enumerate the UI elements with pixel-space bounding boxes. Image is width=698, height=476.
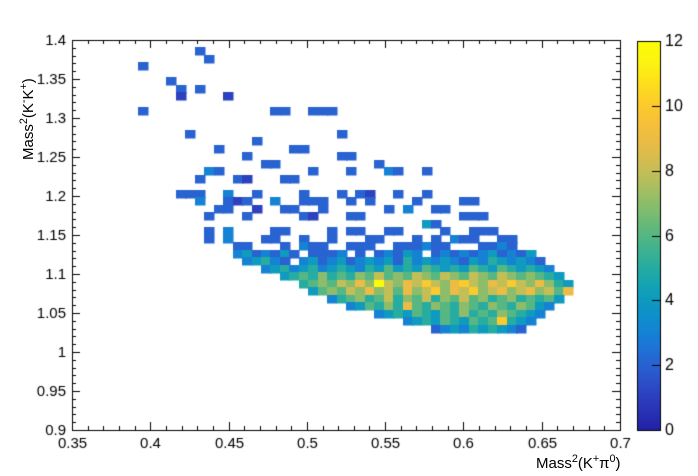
plot-root: Mass2(K-K+) Mass2(K+π0) xyxy=(0,0,698,476)
y-axis-title: Mass2(K-K+) xyxy=(20,78,37,160)
x-axis-title: Mass2(K+π0) xyxy=(536,455,621,472)
dalitz-heatmap-canvas xyxy=(0,0,698,476)
